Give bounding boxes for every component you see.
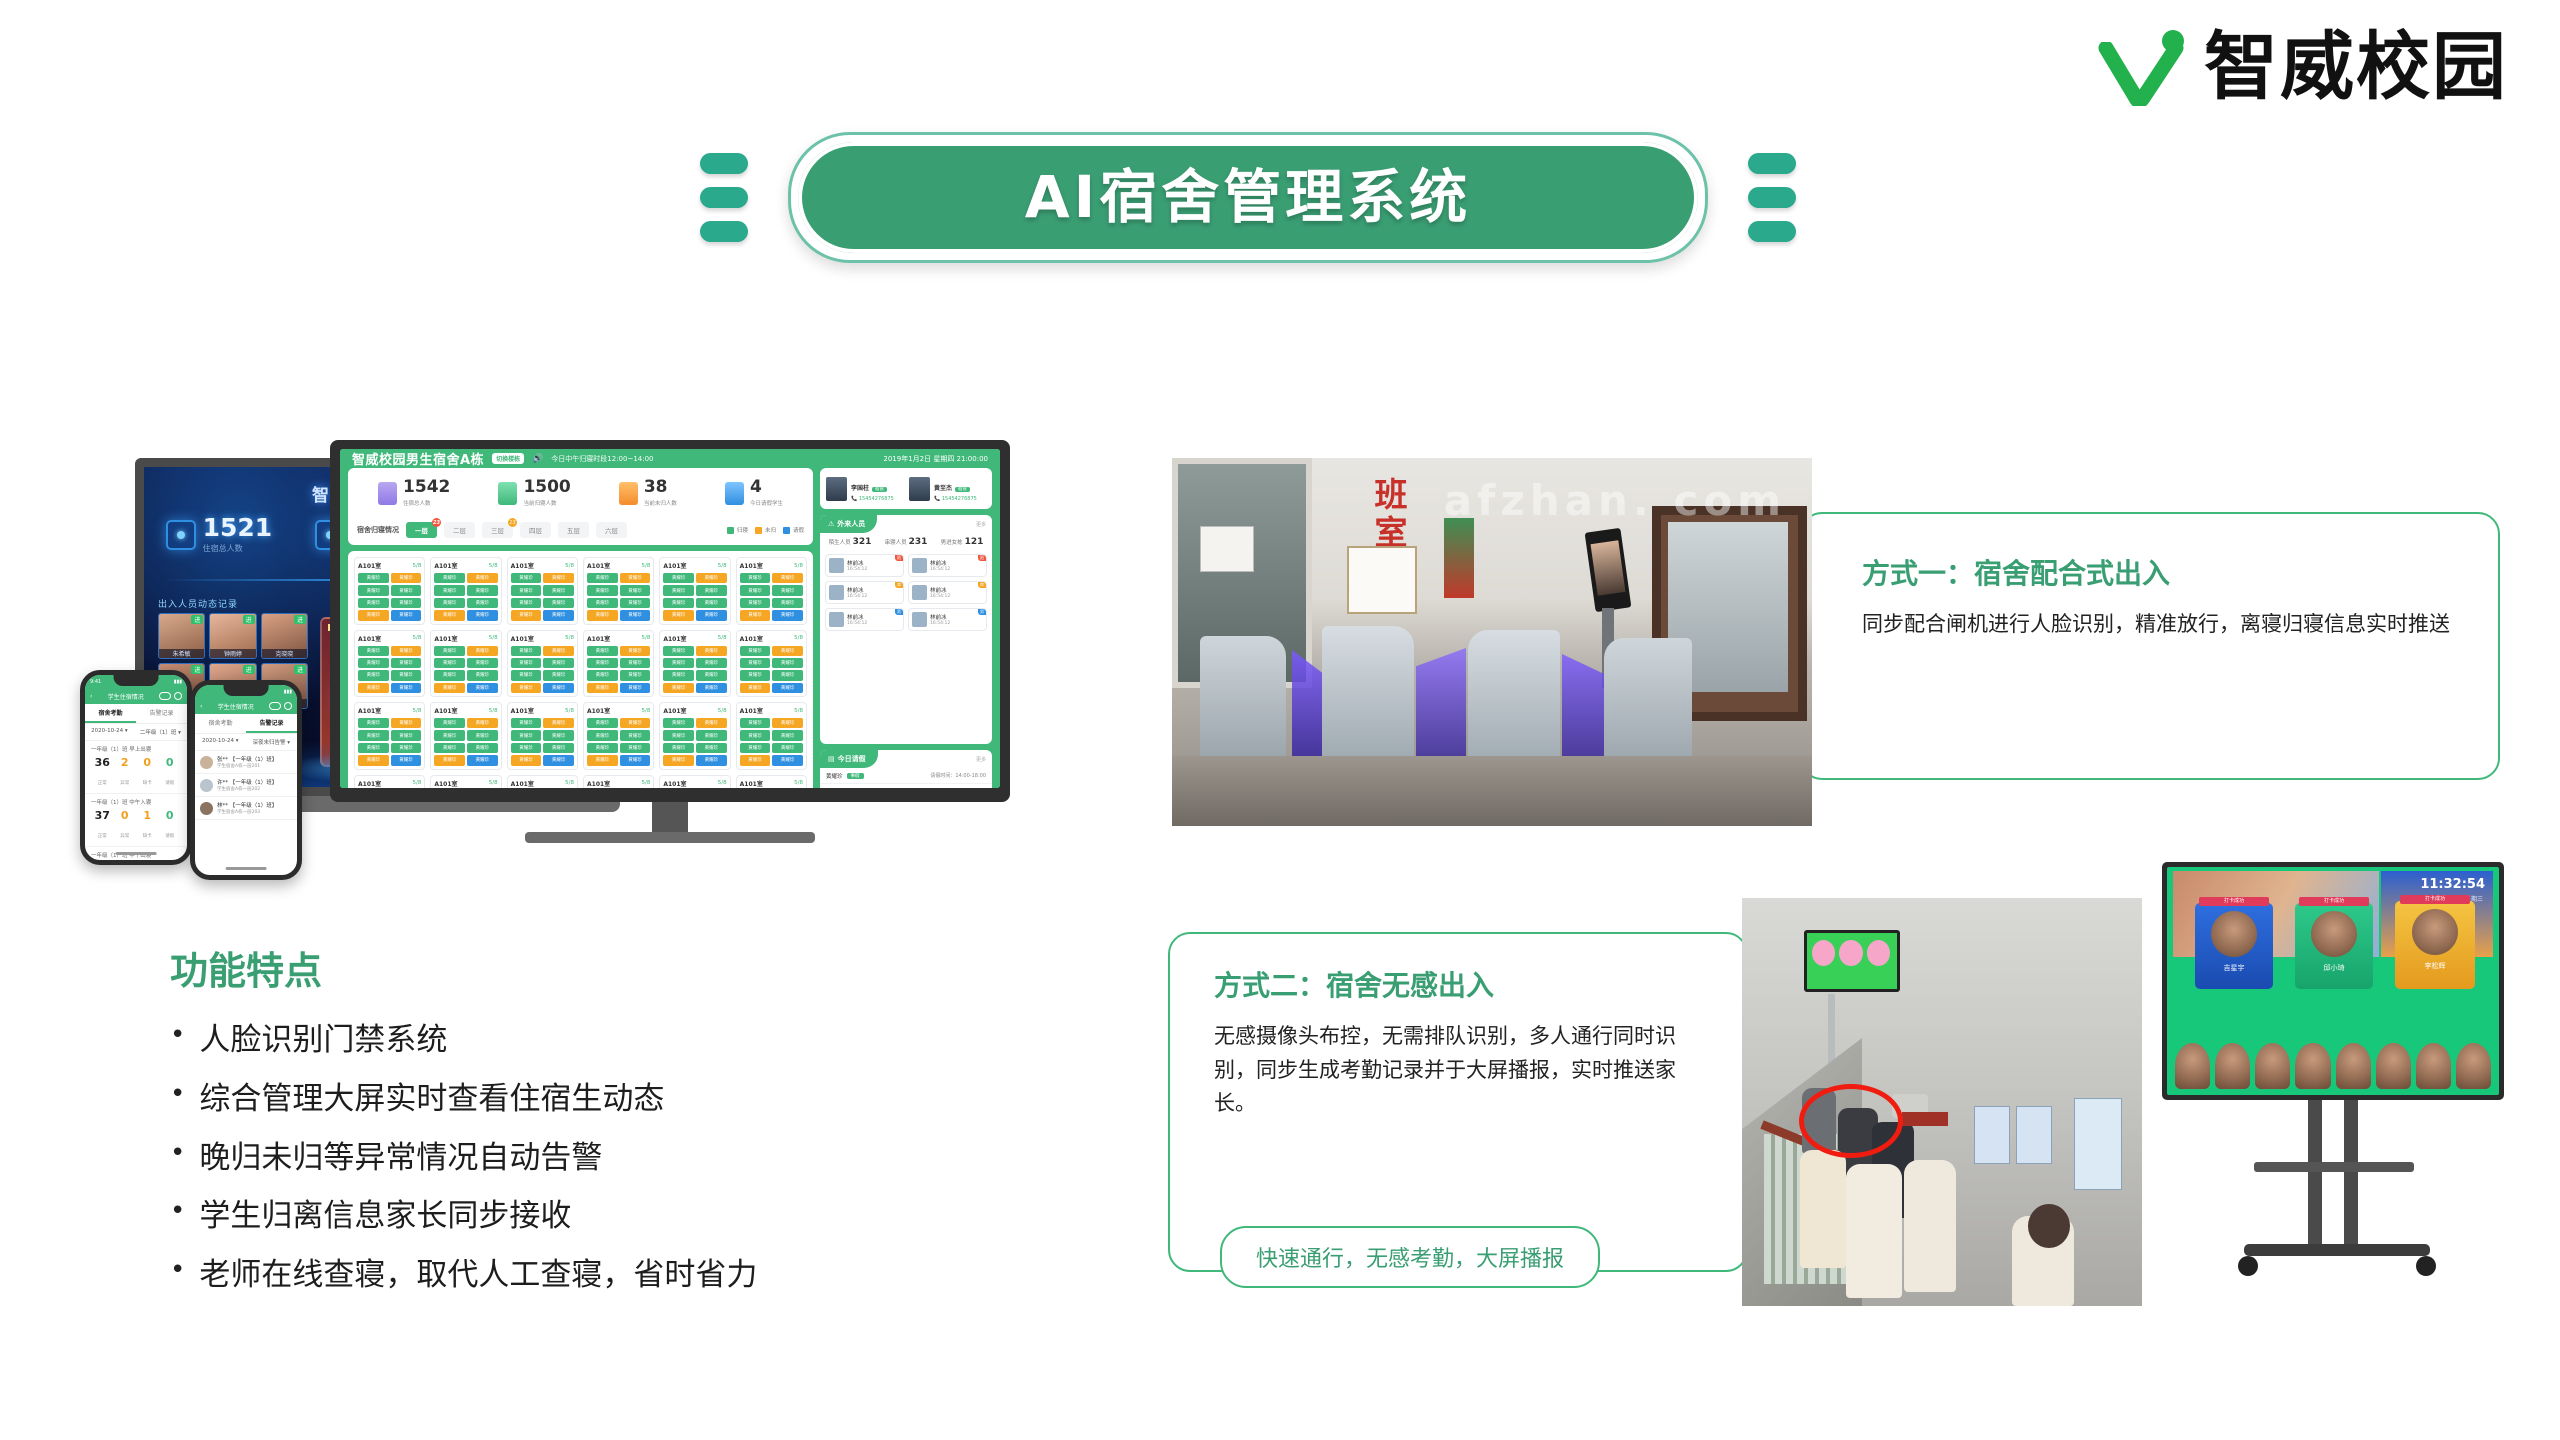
bed-chip[interactable]: 黄耀珍: [663, 585, 694, 595]
bed-chip[interactable]: 黄耀珍: [740, 585, 771, 595]
bed-chip[interactable]: 黄耀珍: [391, 658, 422, 668]
leave-more-link[interactable]: 更多: [976, 756, 992, 763]
bed-chip[interactable]: 黄耀珍: [467, 573, 498, 583]
bed-chip[interactable]: 黄耀珍: [391, 718, 422, 728]
bed-chip[interactable]: 黄耀珍: [740, 658, 771, 668]
bed-chip[interactable]: 黄耀珍: [587, 646, 618, 656]
date-filter[interactable]: 2020-10-24 ▾: [202, 738, 238, 746]
bed-chip[interactable]: 黄耀珍: [587, 670, 618, 680]
bed-chip[interactable]: 黄耀珍: [663, 646, 694, 656]
bed-chip[interactable]: 黄耀珍: [511, 730, 542, 740]
room-occupancy: 5/8: [489, 563, 498, 569]
laptop-section-left: 出入人员动态记录: [158, 597, 238, 610]
kpi-value: 1500: [523, 479, 570, 496]
bed-chip[interactable]: 黄耀珍: [511, 658, 542, 668]
bed-chip[interactable]: 黄耀珍: [740, 646, 771, 656]
room-card[interactable]: A101室5/8黄耀珍黄耀珍黄耀珍黄耀珍黄耀珍黄耀珍黄耀珍黄耀珍: [354, 557, 425, 625]
bed-chip[interactable]: 黄耀珍: [358, 683, 389, 693]
bed-chip[interactable]: 黄耀珍: [511, 585, 542, 595]
bed-chip[interactable]: 黄耀珍: [543, 743, 574, 753]
bar-icon: [1748, 187, 1796, 208]
kpi-item: 38 当前未归人数: [619, 479, 677, 507]
avatar: [826, 477, 847, 501]
visitor-name: 林前冰: [847, 613, 867, 621]
cell-missing: 0缺卡: [136, 863, 159, 865]
bed-chip[interactable]: 黄耀珍: [434, 585, 465, 595]
bed-chip[interactable]: 黄耀珍: [772, 610, 803, 620]
room-card[interactable]: A101室5/8黄耀珍黄耀珍黄耀珍黄耀珍黄耀珍黄耀珍黄耀珍黄耀珍: [430, 702, 501, 770]
room-card[interactable]: A101室5/8黄耀珍黄耀珍黄耀珍黄耀珍黄耀珍黄耀珍黄耀珍黄耀珍: [430, 630, 501, 698]
cell-missing: 1缺卡: [136, 810, 159, 841]
bed-chip[interactable]: 黄耀珍: [587, 718, 618, 728]
alert-name: 林** 【一年级（1）班】: [217, 801, 277, 809]
room-card[interactable]: A101室5/8黄耀珍黄耀珍黄耀珍黄耀珍黄耀珍黄耀珍黄耀珍黄耀珍: [507, 630, 578, 698]
bed-chip[interactable]: 黄耀珍: [467, 610, 498, 620]
bed-chip[interactable]: 黄耀珍: [358, 743, 389, 753]
bed-chip[interactable]: 黄耀珍: [663, 573, 694, 583]
bed-chip[interactable]: 黄耀珍: [391, 610, 422, 620]
bed-chip[interactable]: 黄耀珍: [467, 646, 498, 656]
bed-chip[interactable]: 黄耀珍: [434, 718, 465, 728]
alert-list-item[interactable]: 张** 【一年级（1）班】 学生宿舍A栋一层201: [195, 751, 297, 774]
features-list: •人脸识别门禁系统•综合管理大屏实时查看住宿生动态•晚归未归等异常情况自动告警•…: [170, 1021, 1030, 1295]
entry-thumb[interactable]: 进 钟雨婷: [209, 613, 256, 659]
phone-mockup-attendance: 9:41 ▮▮▮ ‹ 学生住宿情况 宿舍考勤 告警记录 2020-10-24 ▾…: [80, 670, 192, 865]
leave-row[interactable]: 黄耀珍事假请假时间：14:00-18:00: [820, 768, 992, 784]
bed-chip[interactable]: 黄耀珍: [696, 658, 727, 668]
class-filter[interactable]: 二年级（1）班 ▾: [140, 728, 181, 736]
room-card[interactable]: A101室5/8黄耀珍黄耀珍黄耀珍黄耀珍黄耀珍黄耀珍黄耀珍黄耀珍: [736, 702, 807, 770]
bed-chip[interactable]: 黄耀珍: [663, 743, 694, 753]
checkin-badge: 打卡成功: [2199, 897, 2269, 906]
red-ellipse-marker: [1799, 1084, 1903, 1158]
kpi-item: 1500 当前归寝人数: [498, 479, 570, 507]
feature-text: 老师在线查寝，取代人工查寝，省时省力: [199, 1256, 757, 1295]
bed-chip[interactable]: 黄耀珍: [696, 743, 727, 753]
entry-thumb[interactable]: 进 克晓晓: [261, 613, 308, 659]
bed-chip[interactable]: 黄耀珍: [434, 730, 465, 740]
bed-chip[interactable]: 黄耀珍: [663, 610, 694, 620]
bed-chip[interactable]: 黄耀珍: [391, 683, 422, 693]
bed-chip[interactable]: 黄耀珍: [663, 683, 694, 693]
bed-chip[interactable]: 黄耀珍: [391, 646, 422, 656]
bed-chip[interactable]: 黄耀珍: [434, 683, 465, 693]
room-name: A101室: [358, 634, 381, 643]
bed-chip[interactable]: 黄耀珍: [543, 730, 574, 740]
bed-chip[interactable]: 黄耀珍: [511, 683, 542, 693]
room-card[interactable]: A101室5/8黄耀珍黄耀珍黄耀珍黄耀珍黄耀珍黄耀珍黄耀珍黄耀珍: [354, 702, 425, 770]
room-card[interactable]: A101室5/8黄耀珍黄耀珍黄耀珍黄耀珍黄耀珍黄耀珍黄耀珍黄耀珍: [659, 630, 730, 698]
room-occupancy: 5/8: [641, 563, 650, 569]
bed-grid: 黄耀珍黄耀珍黄耀珍黄耀珍黄耀珍黄耀珍黄耀珍黄耀珍: [358, 646, 421, 694]
bed-chip[interactable]: 黄耀珍: [696, 646, 727, 656]
bed-chip[interactable]: 黄耀珍: [696, 585, 727, 595]
floor-tab-1[interactable]: 一层 23: [406, 522, 437, 538]
bed-chip[interactable]: 黄耀珍: [467, 585, 498, 595]
bed-chip[interactable]: 黄耀珍: [696, 598, 727, 608]
bed-chip[interactable]: 黄耀珍: [740, 730, 771, 740]
bed-chip[interactable]: 黄耀珍: [740, 683, 771, 693]
room-name: A101室: [587, 706, 610, 715]
bed-chip[interactable]: 黄耀珍: [358, 755, 389, 765]
bed-chip[interactable]: 黄耀珍: [772, 743, 803, 753]
bed-chip[interactable]: 黄耀珍: [434, 610, 465, 620]
bed-chip[interactable]: 黄耀珍: [511, 670, 542, 680]
logo-mark: [2098, 28, 2190, 106]
bed-chip[interactable]: 黄耀珍: [696, 730, 727, 740]
switch-building-button[interactable]: 切换楼栋: [492, 453, 524, 464]
dashboard-header: 智威校园男生宿舍A栋 切换楼栋 🔊 今日中午归寝时段12:00~14:00 20…: [340, 449, 1000, 468]
bed-chip[interactable]: 黄耀珍: [696, 683, 727, 693]
visitor-entry[interactable]: 林前冰16:54:12串: [908, 581, 987, 604]
date-filter[interactable]: 2020-10-24 ▾: [91, 728, 127, 736]
bed-chip[interactable]: 黄耀珍: [620, 683, 651, 693]
bed-chip[interactable]: 黄耀珍: [587, 755, 618, 765]
room-name: A101室: [740, 561, 763, 570]
bed-chip[interactable]: 黄耀珍: [772, 598, 803, 608]
bed-chip[interactable]: 黄耀珍: [467, 670, 498, 680]
bed-chip[interactable]: 黄耀珍: [663, 755, 694, 765]
room-occupancy: 5/8: [565, 708, 574, 714]
visitor-tag: 男: [978, 609, 986, 615]
floor-badge: 23: [432, 518, 441, 527]
alert-type-filter[interactable]: 深夜未归告警 ▾: [252, 738, 290, 746]
kpi-value: 38: [644, 479, 677, 496]
bed-chip[interactable]: 黄耀珍: [587, 585, 618, 595]
room-occupancy: 5/8: [565, 635, 574, 641]
bed-chip[interactable]: 黄耀珍: [620, 646, 651, 656]
room-occupancy: 5/8: [489, 708, 498, 714]
bed-chip[interactable]: 黄耀珍: [772, 658, 803, 668]
avatar: [200, 802, 213, 815]
dashboard-title: 智威校园男生宿舍A栋: [352, 449, 484, 468]
group-row: 38正常 0异常 0缺卡 0请假: [85, 861, 187, 865]
bed-chip[interactable]: 黄耀珍: [587, 683, 618, 693]
supervisor-item[interactable]: 李国柱宿管 📞 15454276875: [826, 475, 903, 502]
right-bars-decoration: [1748, 153, 1796, 242]
bed-chip[interactable]: 黄耀珍: [663, 598, 694, 608]
bed-chip[interactable]: 黄耀珍: [772, 730, 803, 740]
bed-chip[interactable]: 黄耀珍: [434, 658, 465, 668]
room-occupancy: 5/8: [794, 780, 803, 786]
floor-tab-5[interactable]: 五层: [558, 522, 589, 538]
room-card[interactable]: A101室5/8黄耀珍黄耀珍黄耀珍黄耀珍黄耀珍黄耀珍黄耀珍黄耀珍: [507, 557, 578, 625]
stat-value: 1521: [203, 515, 273, 540]
alert-list-item[interactable]: 许** 【一年级（1）班】 学生宿舍A栋一层202: [195, 774, 297, 797]
bed-chip[interactable]: 黄耀珍: [391, 573, 422, 583]
phone-filters: 2020-10-24 ▾ 二年级（1）班 ▾: [85, 724, 187, 741]
bed-chip[interactable]: 黄耀珍: [620, 573, 651, 583]
room-card[interactable]: A101室5/8黄耀珍黄耀珍黄耀珍黄耀珍黄耀珍黄耀珍黄耀珍黄耀珍: [354, 775, 425, 789]
kpi-value: 4: [750, 479, 783, 496]
bed-grid: 黄耀珍黄耀珍黄耀珍黄耀珍黄耀珍黄耀珍黄耀珍黄耀珍: [511, 646, 574, 694]
room-occupancy: 5/8: [718, 708, 727, 714]
bed-chip[interactable]: 黄耀珍: [543, 610, 574, 620]
visitor-entry[interactable]: 林前冰16:54:12串: [825, 581, 904, 604]
alert-detail: 学生宿舍A栋一层203: [217, 809, 277, 815]
floor-tab-2[interactable]: 二层: [444, 522, 475, 538]
bed-chip[interactable]: 黄耀珍: [543, 658, 574, 668]
callout-1-title: 方式一：宿舍配合式出入: [1862, 552, 2454, 592]
visitor-entry[interactable]: 林前冰16:54:12陌: [908, 554, 987, 577]
bed-chip[interactable]: 黄耀珍: [358, 658, 389, 668]
bed-chip[interactable]: 黄耀珍: [740, 670, 771, 680]
bed-chip[interactable]: 黄耀珍: [620, 730, 651, 740]
bed-grid: 黄耀珍黄耀珍黄耀珍黄耀珍黄耀珍黄耀珍黄耀珍黄耀珍: [740, 646, 803, 694]
bed-chip[interactable]: 黄耀珍: [663, 718, 694, 728]
tv-bezel: 智威校园男生宿舍A栋 切换楼栋 🔊 今日中午归寝时段12:00~14:00 20…: [330, 440, 1010, 802]
room-card[interactable]: A101室5/8黄耀珍黄耀珍黄耀珍黄耀珍黄耀珍黄耀珍黄耀珍黄耀珍: [659, 775, 730, 789]
visitor-more-link[interactable]: 更多: [976, 521, 992, 528]
features-title: 功能特点: [170, 940, 1030, 995]
bed-chip[interactable]: 黄耀珍: [772, 683, 803, 693]
room-card[interactable]: A101室5/8黄耀珍黄耀珍黄耀珍黄耀珍黄耀珍黄耀珍黄耀珍黄耀珍: [659, 702, 730, 770]
visitor-stat: 陌生人员321: [829, 537, 872, 547]
bed-chip[interactable]: 黄耀珍: [358, 585, 389, 595]
leave-row[interactable]: 黄耀珍事假请假时间：14:00-18:00: [820, 784, 992, 788]
checkin-badge: 打卡成功: [2400, 895, 2470, 904]
bed-chip[interactable]: 黄耀珍: [467, 658, 498, 668]
thumb-name: 钟雨婷: [210, 649, 255, 658]
bed-chip[interactable]: 黄耀珍: [696, 573, 727, 583]
bed-chip[interactable]: 黄耀珍: [696, 610, 727, 620]
bed-chip[interactable]: 黄耀珍: [663, 730, 694, 740]
room-occupancy: 5/8: [412, 635, 421, 641]
bed-chip[interactable]: 黄耀珍: [358, 598, 389, 608]
bed-chip[interactable]: 黄耀珍: [391, 585, 422, 595]
back-icon[interactable]: ‹: [200, 703, 202, 710]
leave-type-badge: 事假: [847, 773, 864, 779]
cell-abnormal: 0异常: [114, 810, 137, 841]
avatar: [912, 558, 927, 573]
student-name: 吉星宇: [2207, 963, 2261, 973]
bed-chip[interactable]: 黄耀珍: [587, 743, 618, 753]
callout-2-body: 无感摄像头布控，无需排队识别，多人通行同时识别，同步生成考勤记录并于大屏播报，实…: [1214, 1020, 1714, 1121]
room-card[interactable]: A101室5/8黄耀珍黄耀珍黄耀珍黄耀珍黄耀珍黄耀珍黄耀珍黄耀珍: [736, 630, 807, 698]
room-card[interactable]: A101室5/8黄耀珍黄耀珍黄耀珍黄耀珍黄耀珍黄耀珍黄耀珍黄耀珍: [659, 557, 730, 625]
bed-chip[interactable]: 黄耀珍: [740, 610, 771, 620]
room-card[interactable]: A101室5/8黄耀珍黄耀珍黄耀珍黄耀珍黄耀珍黄耀珍黄耀珍黄耀珍: [583, 557, 654, 625]
bed-chip[interactable]: 黄耀珍: [391, 670, 422, 680]
bar-icon: [700, 221, 748, 242]
bed-chip[interactable]: 黄耀珍: [663, 670, 694, 680]
bed-grid: 黄耀珍黄耀珍黄耀珍黄耀珍黄耀珍黄耀珍黄耀珍黄耀珍: [663, 718, 726, 766]
bed-chip[interactable]: 黄耀珍: [620, 610, 651, 620]
bed-grid: 黄耀珍黄耀珍黄耀珍黄耀珍黄耀珍黄耀珍黄耀珍黄耀珍: [740, 718, 803, 766]
legend-returned: 归寝: [727, 526, 748, 534]
feature-item: •晚归未归等异常情况自动告警: [170, 1139, 1030, 1178]
student-name: 邱小琦: [2307, 963, 2361, 973]
tab-alerts[interactable]: 告警记录: [136, 704, 187, 723]
callout-2-title: 方式二：宿舍无感出入: [1214, 964, 1714, 1004]
bed-chip[interactable]: 黄耀珍: [620, 755, 651, 765]
kpi-label: 今日请假学生: [750, 499, 783, 507]
tab-attendance[interactable]: 宿舍考勤: [85, 704, 136, 723]
bed-chip[interactable]: 黄耀珍: [434, 573, 465, 583]
room-card[interactable]: A101室5/8黄耀珍黄耀珍黄耀珍黄耀珍黄耀珍黄耀珍黄耀珍黄耀珍: [430, 775, 501, 789]
bed-chip[interactable]: 黄耀珍: [772, 573, 803, 583]
entry-thumb[interactable]: 进 朱希敏: [158, 613, 205, 659]
tab-alerts[interactable]: 告警记录: [246, 714, 297, 733]
bed-chip[interactable]: 黄耀珍: [434, 598, 465, 608]
tab-attendance[interactable]: 宿舍考勤: [195, 714, 246, 733]
bed-chip[interactable]: 黄耀珍: [467, 755, 498, 765]
room-card[interactable]: A101室5/8黄耀珍黄耀珍黄耀珍黄耀珍黄耀珍黄耀珍黄耀珍黄耀珍: [583, 630, 654, 698]
bed-chip[interactable]: 黄耀珍: [620, 743, 651, 753]
bed-chip[interactable]: 黄耀珍: [358, 718, 389, 728]
photo-watermark: afzhan. com: [1444, 476, 1786, 525]
bed-chip[interactable]: 黄耀珍: [358, 610, 389, 620]
floor-tab-6[interactable]: 六层: [596, 522, 627, 538]
legend-leave: 请假: [783, 526, 804, 534]
bed-chip[interactable]: 黄耀珍: [620, 718, 651, 728]
kpi-row: 1542 住宿总人数 1500 当前归寝人数: [348, 468, 813, 516]
bed-chip[interactable]: 黄耀珍: [543, 585, 574, 595]
room-card[interactable]: A101室5/8黄耀珍黄耀珍黄耀珍黄耀珍黄耀珍黄耀珍黄耀珍黄耀珍: [736, 557, 807, 625]
leave-student-name: 黄耀珍: [826, 788, 843, 789]
visitor-stats-row: 陌生人员321 串寝人员231 男进女栋121: [820, 533, 992, 551]
phone-notch: [224, 685, 269, 696]
bed-grid: 黄耀珍黄耀珍黄耀珍黄耀珍黄耀珍黄耀珍黄耀珍黄耀珍: [434, 718, 497, 766]
direction-tag: 进: [191, 665, 203, 674]
bed-chip[interactable]: 黄耀珍: [772, 755, 803, 765]
room-name: A101室: [587, 779, 610, 788]
kpi-label: 当前未归人数: [644, 499, 677, 507]
bed-chip[interactable]: 黄耀珍: [511, 755, 542, 765]
bed-chip[interactable]: 黄耀珍: [358, 670, 389, 680]
bed-chip[interactable]: 黄耀珍: [587, 610, 618, 620]
bed-chip[interactable]: 黄耀珍: [620, 585, 651, 595]
visitor-entry[interactable]: 林前冰16:54:12陌: [825, 554, 904, 577]
bed-chip[interactable]: 黄耀珍: [391, 598, 422, 608]
bed-chip[interactable]: 黄耀珍: [434, 755, 465, 765]
phone-mockup-alerts: ▮▮▮ ‹ 学生住宿情况 宿舍考勤 告警记录 2020-10-24 ▾ 深夜未归…: [190, 680, 302, 880]
avatar: [829, 558, 844, 573]
bed-chip[interactable]: 黄耀珍: [543, 718, 574, 728]
bed-chip[interactable]: 黄耀珍: [772, 670, 803, 680]
bed-chip[interactable]: 黄耀珍: [467, 730, 498, 740]
bed-chip[interactable]: 黄耀珍: [391, 755, 422, 765]
stat-label: 住宿总人数: [203, 543, 273, 554]
bed-chip[interactable]: 黄耀珍: [543, 683, 574, 693]
bed-chip[interactable]: 黄耀珍: [391, 730, 422, 740]
bullet-icon: •: [170, 1021, 185, 1050]
bed-chip[interactable]: 黄耀珍: [696, 718, 727, 728]
bed-chip[interactable]: 黄耀珍: [543, 670, 574, 680]
visitor-tag: 陌: [978, 555, 986, 561]
callout-method-2: 方式二：宿舍无感出入 无感摄像头布控，无需排队识别，多人通行同时识别，同步生成考…: [1168, 932, 1748, 1272]
floor-tab-4[interactable]: 四层: [520, 522, 551, 538]
supervisor-name: 李国柱: [851, 485, 869, 492]
bed-chip[interactable]: 黄耀珍: [740, 573, 771, 583]
bed-chip[interactable]: 黄耀珍: [467, 683, 498, 693]
visitor-entry[interactable]: 林前冰16:54:12男: [825, 608, 904, 631]
bed-chip[interactable]: 黄耀珍: [511, 718, 542, 728]
bed-chip[interactable]: 黄耀珍: [434, 670, 465, 680]
bed-chip[interactable]: 黄耀珍: [663, 658, 694, 668]
room-card[interactable]: A101室5/8黄耀珍黄耀珍黄耀珍黄耀珍黄耀珍黄耀珍黄耀珍黄耀珍: [430, 557, 501, 625]
bed-chip[interactable]: 黄耀珍: [587, 730, 618, 740]
visitor-tag: 男: [895, 609, 903, 615]
alert-list-item[interactable]: 林** 【一年级（1）班】 学生宿舍A栋一层203: [195, 797, 297, 820]
bed-chip[interactable]: 黄耀珍: [467, 718, 498, 728]
bed-chip[interactable]: 黄耀珍: [740, 755, 771, 765]
bed-chip[interactable]: 黄耀珍: [696, 755, 727, 765]
bed-chip[interactable]: 黄耀珍: [511, 598, 542, 608]
supervisor-item[interactable]: 黄至杰宿管 📞 15454276875: [909, 475, 986, 502]
room-card[interactable]: A101室5/8黄耀珍黄耀珍黄耀珍黄耀珍黄耀珍黄耀珍黄耀珍黄耀珍: [354, 630, 425, 698]
bed-chip[interactable]: 黄耀珍: [467, 598, 498, 608]
bed-chip[interactable]: 黄耀珍: [391, 743, 422, 753]
floor-tab-3[interactable]: 三层 13: [482, 522, 513, 538]
bed-grid: 黄耀珍黄耀珍黄耀珍黄耀珍黄耀珍黄耀珍黄耀珍黄耀珍: [434, 573, 497, 621]
room-name: A101室: [434, 779, 457, 788]
bed-chip[interactable]: 黄耀珍: [587, 573, 618, 583]
bed-chip[interactable]: 黄耀珍: [620, 598, 651, 608]
phone-nav-bar: ‹ 学生住宿情况: [195, 698, 297, 714]
feature-item: •人脸识别门禁系统: [170, 1021, 1030, 1060]
bed-chip[interactable]: 黄耀珍: [696, 670, 727, 680]
bed-chip[interactable]: 黄耀珍: [543, 646, 574, 656]
bed-chip[interactable]: 黄耀珍: [511, 743, 542, 753]
bed-chip[interactable]: 黄耀珍: [740, 598, 771, 608]
avatar: [912, 612, 927, 627]
bed-chip[interactable]: 黄耀珍: [587, 658, 618, 668]
bed-chip[interactable]: 黄耀珍: [740, 743, 771, 753]
bed-chip[interactable]: 黄耀珍: [467, 743, 498, 753]
bed-chip[interactable]: 黄耀珍: [543, 755, 574, 765]
bed-chip[interactable]: 黄耀珍: [543, 573, 574, 583]
avatar: [829, 585, 844, 600]
alert-detail: 学生宿舍A栋一层201: [217, 763, 277, 769]
bed-chip[interactable]: 黄耀珍: [511, 610, 542, 620]
bed-chip[interactable]: 黄耀珍: [543, 598, 574, 608]
room-card[interactable]: A101室5/8黄耀珍黄耀珍黄耀珍黄耀珍黄耀珍黄耀珍黄耀珍黄耀珍: [507, 702, 578, 770]
bed-chip[interactable]: 黄耀珍: [772, 585, 803, 595]
bed-chip[interactable]: 黄耀珍: [772, 646, 803, 656]
room-card[interactable]: A101室5/8黄耀珍黄耀珍黄耀珍黄耀珍黄耀珍黄耀珍黄耀珍黄耀珍: [507, 775, 578, 789]
bed-chip[interactable]: 黄耀珍: [358, 646, 389, 656]
room-name: A101室: [434, 561, 457, 570]
bed-chip[interactable]: 黄耀珍: [434, 743, 465, 753]
bed-chip[interactable]: 黄耀珍: [358, 730, 389, 740]
bed-chip[interactable]: 黄耀珍: [587, 598, 618, 608]
bullet-icon: •: [170, 1197, 185, 1226]
bed-chip[interactable]: 黄耀珍: [358, 573, 389, 583]
bed-chip[interactable]: 黄耀珍: [620, 658, 651, 668]
bed-chip[interactable]: 黄耀珍: [772, 718, 803, 728]
brand-logo: 智威校园: [2098, 28, 2508, 106]
visitor-entry[interactable]: 林前冰16:54:12男: [908, 608, 987, 631]
visitor-name: 林前冰: [930, 559, 950, 567]
cell-leave: 0请假: [159, 863, 182, 865]
device-mockup-group: 智慧宿舍 1521 住宿总人数 1220: [50, 440, 1110, 860]
room-card[interactable]: A101室5/8黄耀珍黄耀珍黄耀珍黄耀珍黄耀珍黄耀珍黄耀珍黄耀珍: [583, 702, 654, 770]
room-card[interactable]: A101室5/8黄耀珍黄耀珍黄耀珍黄耀珍黄耀珍黄耀珍黄耀珍黄耀珍: [736, 775, 807, 789]
room-occupancy: 5/8: [718, 635, 727, 641]
nav-actions[interactable]: [269, 702, 292, 710]
bed-chip[interactable]: 黄耀珍: [434, 646, 465, 656]
back-icon[interactable]: ‹: [90, 693, 92, 700]
nav-actions[interactable]: [159, 692, 182, 700]
bed-chip[interactable]: 黄耀珍: [620, 670, 651, 680]
room-card[interactable]: A101室5/8黄耀珍黄耀珍黄耀珍黄耀珍黄耀珍黄耀珍黄耀珍黄耀珍: [583, 775, 654, 789]
bed-chip[interactable]: 黄耀珍: [740, 718, 771, 728]
logo-dot-icon: [2162, 30, 2184, 52]
bed-chip[interactable]: 黄耀珍: [511, 646, 542, 656]
callout-2-pill: 快速通行，无感考勤，大屏播报: [1220, 1226, 1600, 1288]
bed-chip[interactable]: 黄耀珍: [511, 573, 542, 583]
